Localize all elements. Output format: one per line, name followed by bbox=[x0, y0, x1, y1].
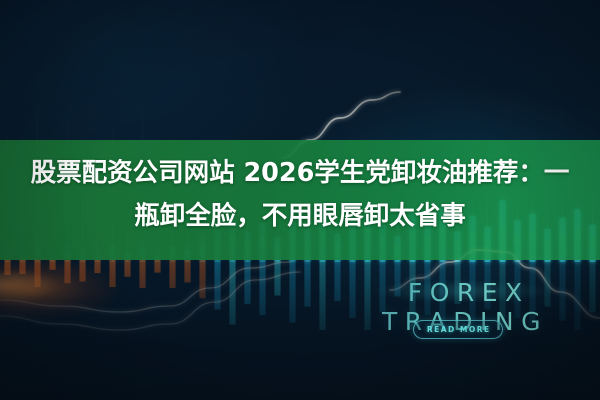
read-more-label: READ MORE bbox=[425, 325, 490, 334]
banner-image: 股票配资公司网站 2026学生党卸妆油推荐：一 瓶卸全脸，不用眼唇卸太省事 FO… bbox=[0, 0, 600, 400]
page-title: 股票配资公司网站 2026学生党卸妆油推荐：一 瓶卸全脸，不用眼唇卸太省事 bbox=[0, 152, 600, 238]
read-more-button[interactable]: READ MORE bbox=[413, 320, 503, 339]
